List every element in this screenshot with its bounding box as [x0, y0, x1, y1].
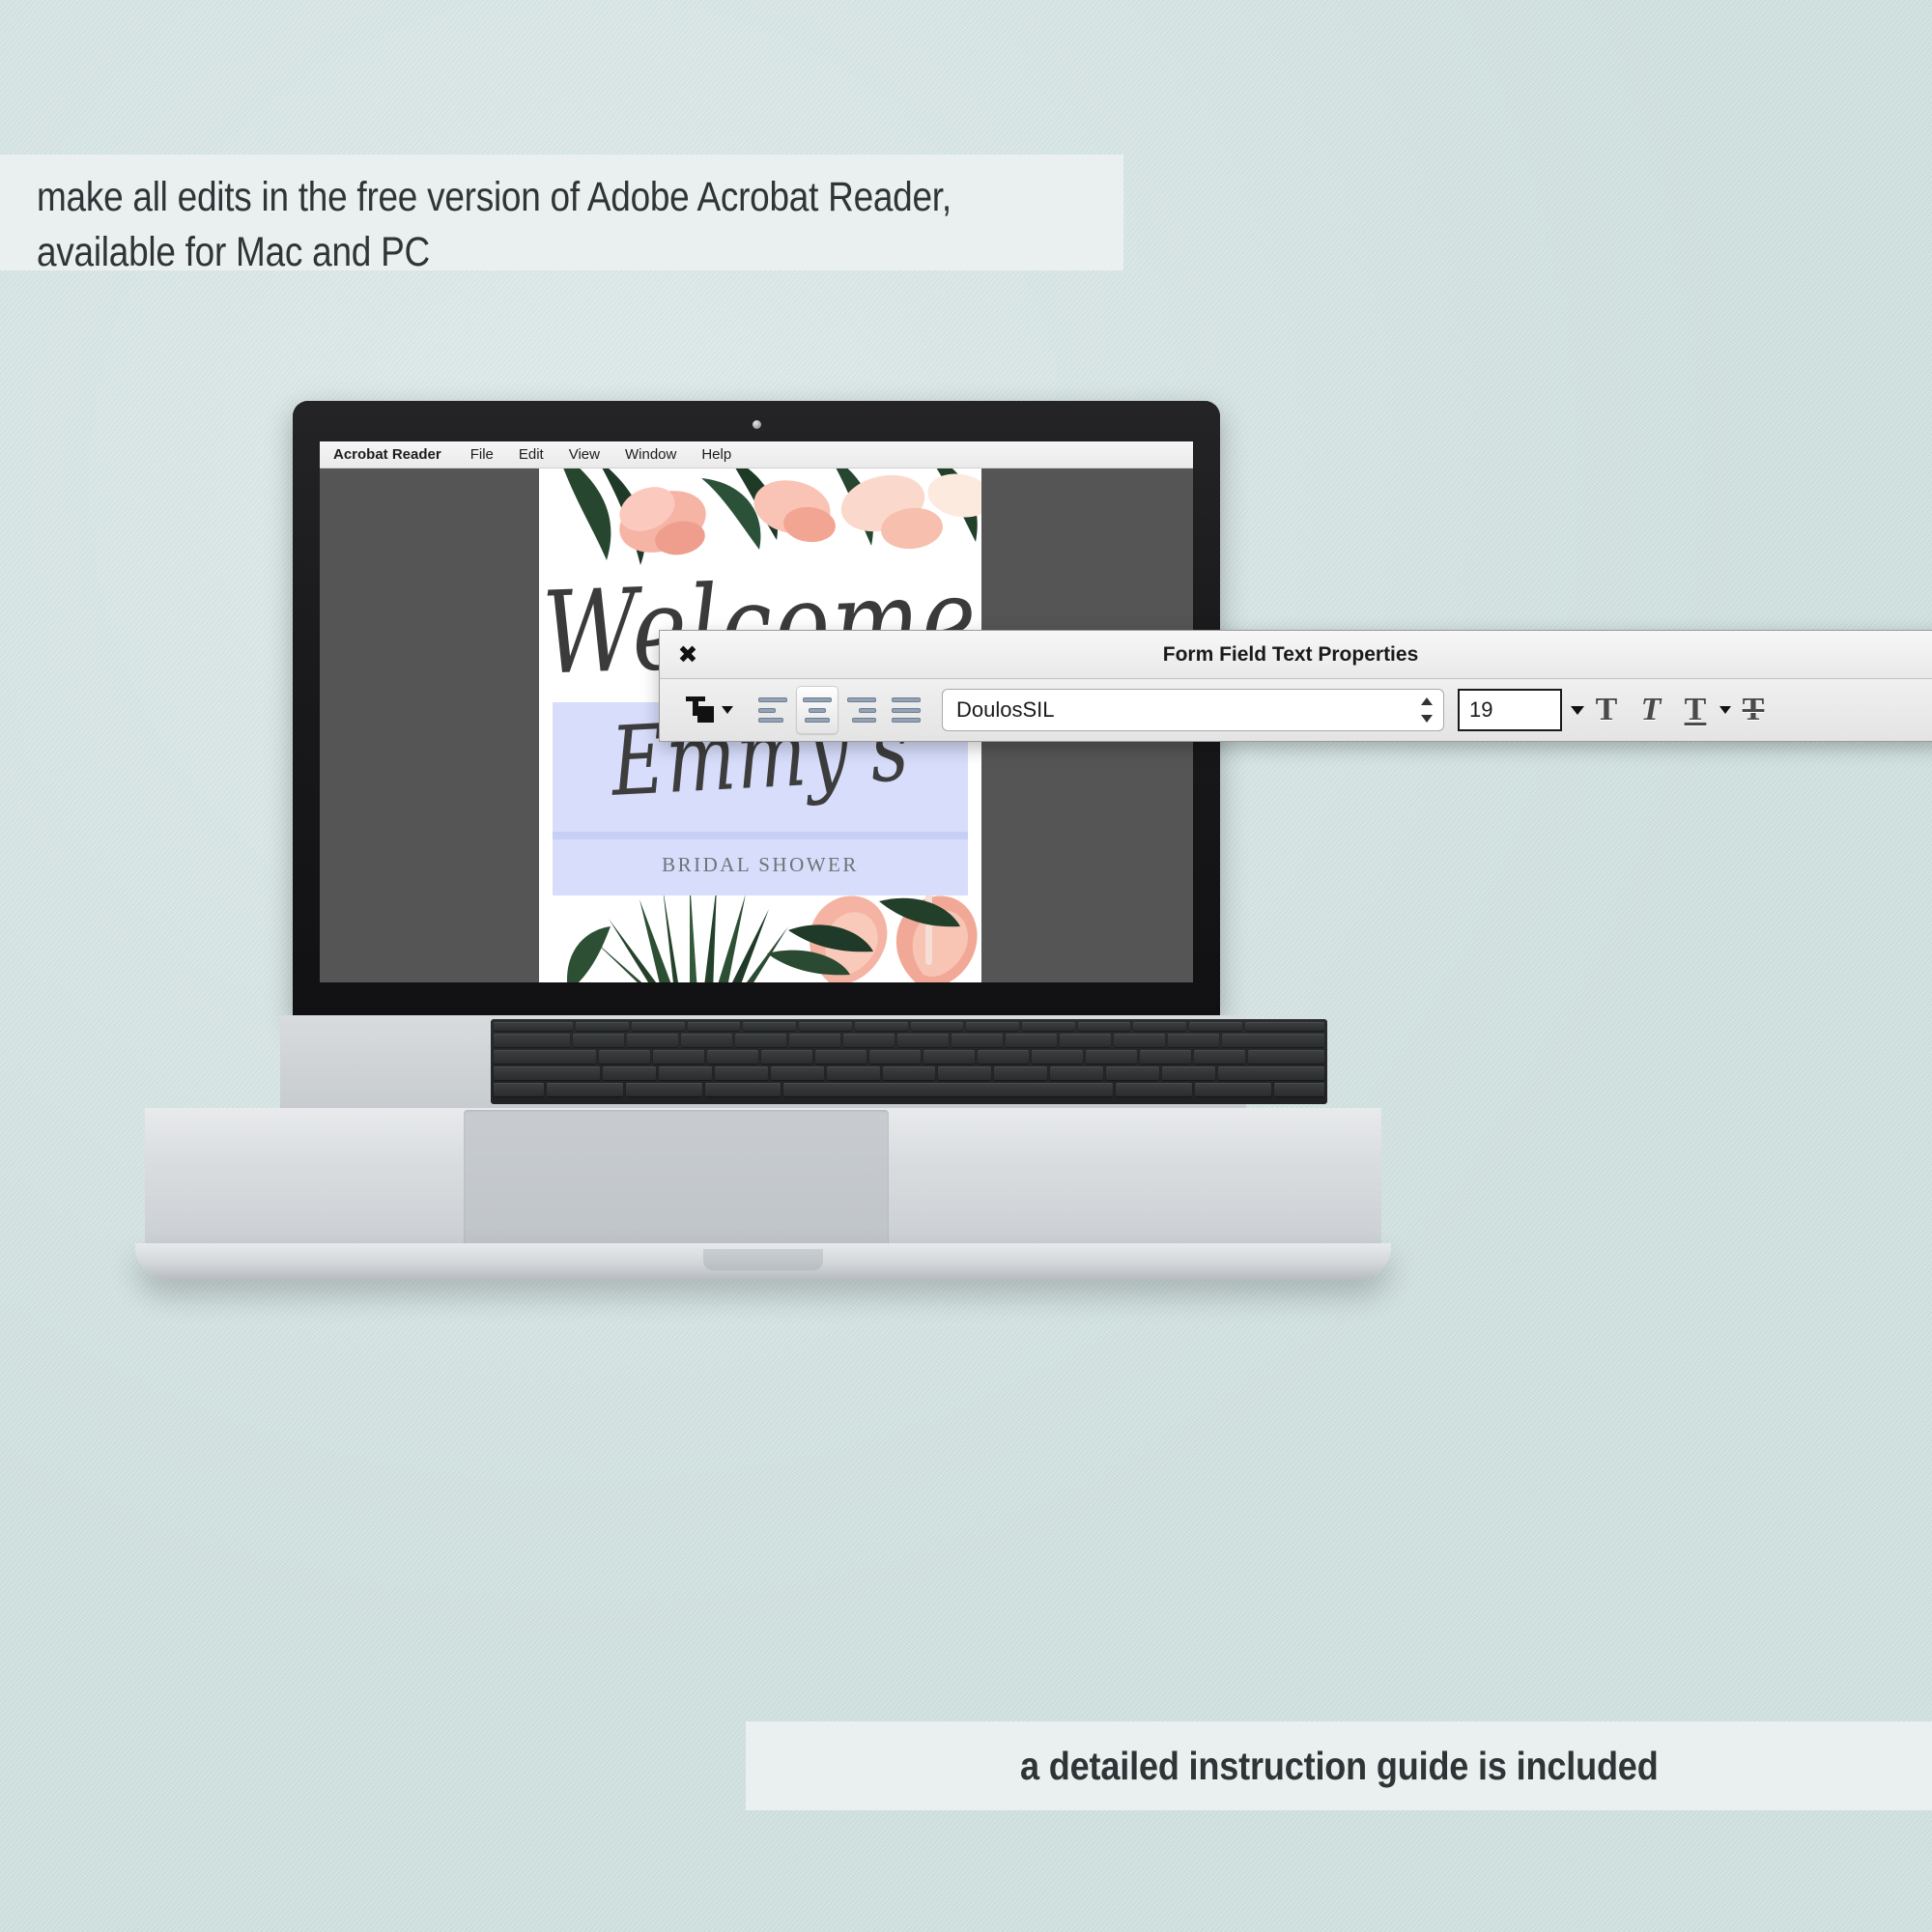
- key: [855, 1022, 908, 1031]
- key: [1195, 1083, 1271, 1096]
- key: [659, 1066, 712, 1080]
- webcam-icon: [753, 420, 761, 429]
- key: [688, 1022, 741, 1031]
- font-family-select[interactable]: DoulosSIL: [942, 689, 1444, 731]
- key: [827, 1066, 880, 1080]
- key: [938, 1066, 991, 1080]
- key: [494, 1034, 570, 1047]
- text-properties-toolbar[interactable]: DoulosSIL 19 T T T T: [660, 679, 1932, 741]
- bold-button[interactable]: T: [1585, 686, 1628, 734]
- key: [547, 1083, 623, 1096]
- key: [1078, 1022, 1131, 1031]
- laptop-mockup: Acrobat Reader File Edit View Window Hel…: [135, 401, 1391, 1232]
- key: [603, 1066, 656, 1080]
- key: [761, 1050, 812, 1064]
- key: [743, 1022, 796, 1031]
- key: [599, 1050, 650, 1064]
- keyboard-row: [494, 1034, 1324, 1047]
- key: [653, 1050, 704, 1064]
- dialog-title: Form Field Text Properties: [660, 643, 1932, 667]
- key: [1218, 1066, 1324, 1080]
- keyboard[interactable]: [491, 1019, 1327, 1104]
- menu-item-acrobat-reader[interactable]: Acrobat Reader: [333, 446, 441, 463]
- text-tool-button[interactable]: [667, 686, 750, 734]
- strikethrough-button[interactable]: T: [1732, 686, 1775, 734]
- key: [1274, 1083, 1324, 1096]
- key: [1133, 1022, 1186, 1031]
- font-family-value: DoulosSIL: [956, 697, 1055, 723]
- menu-item-view[interactable]: View: [569, 446, 600, 463]
- key: [1086, 1050, 1137, 1064]
- underline-icon: T: [1675, 694, 1717, 726]
- align-left-button[interactable]: [752, 686, 794, 734]
- top-caption-banner: make all edits in the free version of Ad…: [0, 155, 1123, 270]
- key: [494, 1022, 573, 1031]
- key: [681, 1034, 732, 1047]
- key: [869, 1050, 921, 1064]
- key: [1189, 1022, 1242, 1031]
- dialog-title-bar[interactable]: ✖ Form Field Text Properties: [660, 631, 1932, 679]
- align-left-icon: [758, 697, 787, 723]
- key: [789, 1034, 840, 1047]
- key: [1222, 1034, 1324, 1047]
- menu-item-help[interactable]: Help: [701, 446, 731, 463]
- key: [632, 1022, 685, 1031]
- keyboard-row: [494, 1083, 1324, 1096]
- chevron-down-icon[interactable]: [722, 706, 733, 714]
- key: [626, 1083, 702, 1096]
- keyboard-row: [494, 1050, 1324, 1064]
- font-size-input[interactable]: 19: [1458, 689, 1562, 731]
- align-justify-icon: [892, 697, 921, 723]
- key: [771, 1066, 824, 1080]
- key: [494, 1083, 544, 1096]
- form-field-text-properties-dialog[interactable]: ✖ Form Field Text Properties: [659, 630, 1932, 742]
- top-caption-line-1: make all edits in the free version of Ad…: [37, 170, 972, 225]
- laptop-shadow: [251, 1613, 1546, 1652]
- key: [1245, 1022, 1324, 1031]
- key: [573, 1034, 624, 1047]
- key: [883, 1066, 936, 1080]
- align-center-icon: [803, 697, 832, 723]
- key: [1162, 1066, 1215, 1080]
- align-justify-button[interactable]: [885, 686, 927, 734]
- key: [576, 1022, 629, 1031]
- key: [843, 1034, 895, 1047]
- align-right-icon: [847, 697, 876, 723]
- key: [494, 1066, 600, 1080]
- underline-dropdown-icon[interactable]: [1719, 706, 1731, 714]
- font-size-dropdown-icon[interactable]: [1571, 706, 1584, 715]
- key: [1116, 1083, 1192, 1096]
- select-stepper-icon[interactable]: [1420, 697, 1434, 723]
- text-tool-icon: [684, 695, 717, 725]
- key: [707, 1050, 758, 1064]
- laptop-base: [135, 1015, 1391, 1208]
- key: [966, 1022, 1019, 1031]
- key: [1248, 1050, 1324, 1064]
- event-subtitle: BRIDAL SHOWER: [539, 853, 981, 877]
- scene-root: make all edits in the free version of Ad…: [0, 0, 1932, 1932]
- key: [1114, 1034, 1165, 1047]
- key: [494, 1050, 596, 1064]
- key: [815, 1050, 867, 1064]
- key: [1194, 1050, 1245, 1064]
- key: [705, 1083, 781, 1096]
- key: [994, 1066, 1047, 1080]
- key: [1006, 1034, 1057, 1047]
- base-notch: [703, 1249, 823, 1270]
- strikethrough-icon: T: [1733, 694, 1775, 726]
- key: [627, 1034, 678, 1047]
- bottom-caption-banner: a detailed instruction guide is included: [746, 1721, 1932, 1810]
- keyboard-row: [494, 1022, 1324, 1031]
- key: [978, 1050, 1029, 1064]
- italic-button[interactable]: T: [1630, 686, 1672, 734]
- key: [735, 1034, 786, 1047]
- field-divider: [553, 832, 968, 839]
- menu-item-window[interactable]: Window: [625, 446, 676, 463]
- key: [1032, 1050, 1083, 1064]
- mac-menu-bar[interactable]: Acrobat Reader File Edit View Window Hel…: [320, 441, 1193, 469]
- underline-button[interactable]: T: [1674, 686, 1717, 734]
- bold-icon: T: [1586, 694, 1628, 726]
- key: [1022, 1022, 1075, 1031]
- align-right-button[interactable]: [840, 686, 883, 734]
- top-caption-line-2: available for Mac and PC: [37, 225, 972, 280]
- font-size-value: 19: [1469, 697, 1492, 723]
- align-center-button[interactable]: [796, 686, 838, 734]
- menu-item-file[interactable]: File: [470, 446, 494, 463]
- key: [1050, 1066, 1103, 1080]
- italic-icon: T: [1632, 694, 1671, 726]
- key: [1140, 1050, 1191, 1064]
- keyboard-row: [494, 1066, 1324, 1080]
- trackpad[interactable]: [464, 1110, 889, 1255]
- bottom-caption-text: a detailed instruction guide is included: [1020, 1744, 1659, 1789]
- key: [923, 1050, 975, 1064]
- key: [1106, 1066, 1159, 1080]
- key: [952, 1034, 1003, 1047]
- menu-item-edit[interactable]: Edit: [519, 446, 544, 463]
- key: [799, 1022, 852, 1031]
- key: [911, 1022, 964, 1031]
- key: [715, 1066, 768, 1080]
- key: [1168, 1034, 1219, 1047]
- key: [1060, 1034, 1111, 1047]
- key: [897, 1034, 949, 1047]
- key-space: [783, 1083, 1113, 1096]
